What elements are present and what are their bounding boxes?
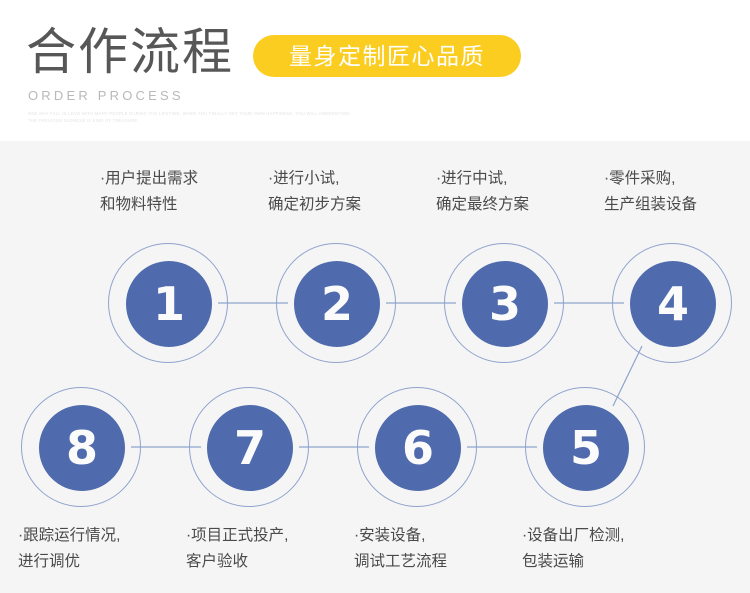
step-caption-5-line2: 包装运输 — [522, 549, 624, 575]
process-step-6-disc: 6 — [375, 405, 461, 491]
process-step-3-number: 3 — [489, 281, 521, 327]
step-caption-6: ·安装设备, 调试工艺流程 — [354, 523, 447, 575]
step-caption-6-line2: 调试工艺流程 — [354, 549, 447, 575]
step-caption-7-line2: 客户验收 — [186, 549, 288, 575]
process-step-4-disc: 4 — [630, 261, 716, 347]
step-caption-8-line2: 进行调优 — [18, 549, 120, 575]
process-step-2-number: 2 — [321, 281, 353, 327]
step-caption-3-line1: ·进行中试, — [436, 166, 529, 192]
process-step-5-number: 5 — [570, 425, 602, 471]
process-step-6[interactable]: 6 — [357, 387, 477, 507]
step-caption-3: ·进行中试, 确定最终方案 — [436, 166, 529, 218]
step-caption-1: ·用户提出需求 和物料特性 — [100, 166, 198, 218]
step-caption-4-line1: ·零件采购, — [604, 166, 697, 192]
process-step-8-disc: 8 — [39, 405, 125, 491]
step-caption-7-line1: ·项目正式投产, — [186, 523, 288, 549]
step-caption-8: ·跟踪运行情况, 进行调优 — [18, 523, 120, 575]
process-step-8[interactable]: 8 — [21, 387, 141, 507]
step-caption-2-line1: ·进行小试, — [268, 166, 361, 192]
process-step-5[interactable]: 5 — [525, 387, 645, 507]
step-caption-5-line1: ·设备出厂检测, — [522, 523, 624, 549]
tagline-badge: 量身定制匠心品质 — [253, 35, 521, 77]
process-step-1-number: 1 — [153, 281, 185, 327]
page-subtitle-english: ORDER PROCESS — [28, 88, 184, 104]
process-step-5-disc: 5 — [543, 405, 629, 491]
step-caption-8-line1: ·跟踪运行情况, — [18, 523, 120, 549]
process-step-6-number: 6 — [402, 425, 434, 471]
process-step-7-number: 7 — [234, 425, 266, 471]
process-step-2[interactable]: 2 — [276, 243, 396, 363]
step-caption-5: ·设备出厂检测, 包装运输 — [522, 523, 624, 575]
step-caption-3-line2: 确定最终方案 — [436, 192, 529, 218]
process-step-3-disc: 3 — [462, 261, 548, 347]
process-step-1-disc: 1 — [126, 261, 212, 347]
step-caption-1-line2: 和物料特性 — [100, 192, 198, 218]
step-caption-2: ·进行小试, 确定初步方案 — [268, 166, 361, 218]
process-flow-panel: ·用户提出需求 和物料特性 ·进行小试, 确定初步方案 ·进行中试, 确定最终方… — [0, 141, 750, 593]
step-caption-4-line2: 生产组装设备 — [604, 192, 697, 218]
step-caption-7: ·项目正式投产, 客户验收 — [186, 523, 288, 575]
tagline-badge-label: 量身定制匠心品质 — [289, 45, 485, 68]
process-step-7[interactable]: 7 — [189, 387, 309, 507]
process-step-1[interactable]: 1 — [108, 243, 228, 363]
step-caption-6-line1: ·安装设备, — [354, 523, 447, 549]
process-step-8-number: 8 — [66, 425, 98, 471]
process-step-4[interactable]: 4 — [612, 243, 732, 363]
step-caption-4: ·零件采购, 生产组装设备 — [604, 166, 697, 218]
step-caption-1-line1: ·用户提出需求 — [100, 166, 198, 192]
process-step-4-number: 4 — [657, 281, 689, 327]
page-title: 合作流程 — [26, 24, 234, 80]
step-caption-2-line2: 确定初步方案 — [268, 192, 361, 218]
process-step-2-disc: 2 — [294, 261, 380, 347]
fine-print-text: ONE MAY FALL IN LOVE WITH MANY PEOPLE DU… — [28, 110, 358, 124]
process-step-7-disc: 7 — [207, 405, 293, 491]
header-banner: 合作流程 ORDER PROCESS ONE MAY FALL IN LOVE … — [0, 0, 750, 141]
order-process-infographic: 合作流程 ORDER PROCESS ONE MAY FALL IN LOVE … — [0, 0, 750, 593]
process-step-3[interactable]: 3 — [444, 243, 564, 363]
